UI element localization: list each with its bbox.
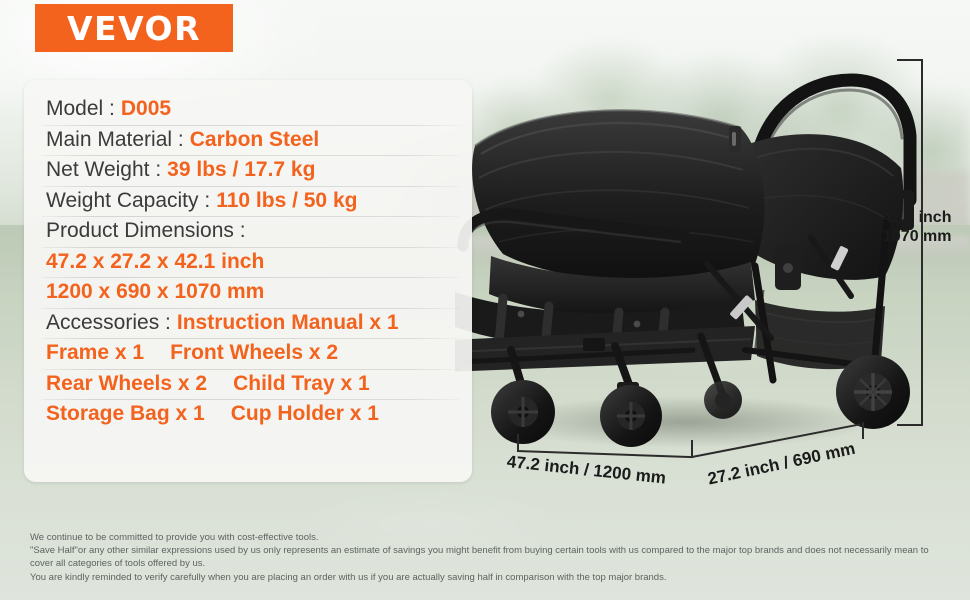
disclaimer-line-3: cover all categories of tools offered by…	[30, 557, 950, 570]
spec-label-accessories: Accessories :	[46, 311, 171, 335]
spec-row-main-material: Main Material : Carbon Steel	[24, 125, 472, 156]
accessory-storage-bag: Storage Bag x 1	[46, 402, 205, 426]
vevor-logo: VEVOR	[35, 4, 233, 52]
accessory-front-wheels: Front Wheels x 2	[170, 341, 338, 365]
accessory-child-tray: Child Tray x 1	[233, 372, 370, 396]
accessory-row-2: Rear Wheels x 2 Child Tray x 1	[24, 369, 472, 400]
spec-label-main-material: Main Material :	[46, 128, 184, 152]
spec-value-net-weight: 39 lbs / 17.7 kg	[167, 158, 315, 182]
spec-label-product-dimensions: Product Dimensions :	[46, 219, 246, 243]
spec-row-dimensions-inch: 47.2 x 27.2 x 42.1 inch	[24, 247, 472, 278]
spec-label-net-weight: Net Weight :	[46, 158, 161, 182]
disclaimer-line-2: "Save Half"or any other similar expressi…	[30, 544, 950, 557]
specification-panel: Model : D005 Main Material : Carbon Stee…	[24, 80, 472, 482]
spec-value-model: D005	[121, 97, 171, 121]
accessory-frame: Frame x 1	[46, 341, 144, 365]
spec-label-model: Model :	[46, 97, 115, 121]
spec-row-product-dimensions: Product Dimensions :	[24, 216, 472, 247]
width-dimension-tick-mid	[691, 440, 693, 456]
spec-value-dimensions-inch: 47.2 x 27.2 x 42.1 inch	[46, 250, 264, 274]
height-dimension-label: 42.1 inch 1070 mm	[883, 208, 952, 246]
disclaimer-line-1: We continue to be committed to provide y…	[30, 531, 950, 544]
width-dimension-tick-left	[517, 434, 519, 451]
infographic-canvas: VEVOR Model : D005 Main Material : Carbo…	[0, 0, 970, 600]
spec-value-dimensions-mm: 1200 x 690 x 1070 mm	[46, 280, 264, 304]
spec-row-dimensions-mm: 1200 x 690 x 1070 mm	[24, 277, 472, 308]
spec-value-weight-capacity: 110 lbs / 50 kg	[216, 189, 357, 213]
accessory-row-1: Frame x 1 Front Wheels x 2	[24, 338, 472, 369]
vevor-logo-text: VEVOR	[67, 12, 201, 45]
spec-label-weight-capacity: Weight Capacity :	[46, 189, 210, 213]
spec-value-accessories: Instruction Manual x 1	[177, 311, 399, 335]
accessory-rear-wheels: Rear Wheels x 2	[46, 372, 207, 396]
height-dimension-tick-bottom	[897, 424, 923, 426]
depth-dimension-tick-right	[862, 422, 864, 439]
spec-row-net-weight: Net Weight : 39 lbs / 17.7 kg	[24, 155, 472, 186]
disclaimer-text: We continue to be committed to provide y…	[30, 531, 950, 584]
accessory-cup-holder: Cup Holder x 1	[231, 402, 379, 426]
spec-row-model: Model : D005	[24, 94, 472, 125]
spec-value-main-material: Carbon Steel	[190, 128, 320, 152]
spec-row-weight-capacity: Weight Capacity : 110 lbs / 50 kg	[24, 186, 472, 217]
height-dimension-tick-top	[897, 59, 923, 61]
disclaimer-line-4: You are kindly reminded to verify carefu…	[30, 571, 950, 584]
accessory-row-3: Storage Bag x 1 Cup Holder x 1	[24, 399, 472, 430]
height-dimension-inch: 42.1 inch	[883, 208, 952, 227]
spec-row-accessories: Accessories : Instruction Manual x 1	[24, 308, 472, 339]
product-image-stroller	[455, 50, 925, 450]
height-dimension-mm: 1070 mm	[883, 227, 952, 246]
